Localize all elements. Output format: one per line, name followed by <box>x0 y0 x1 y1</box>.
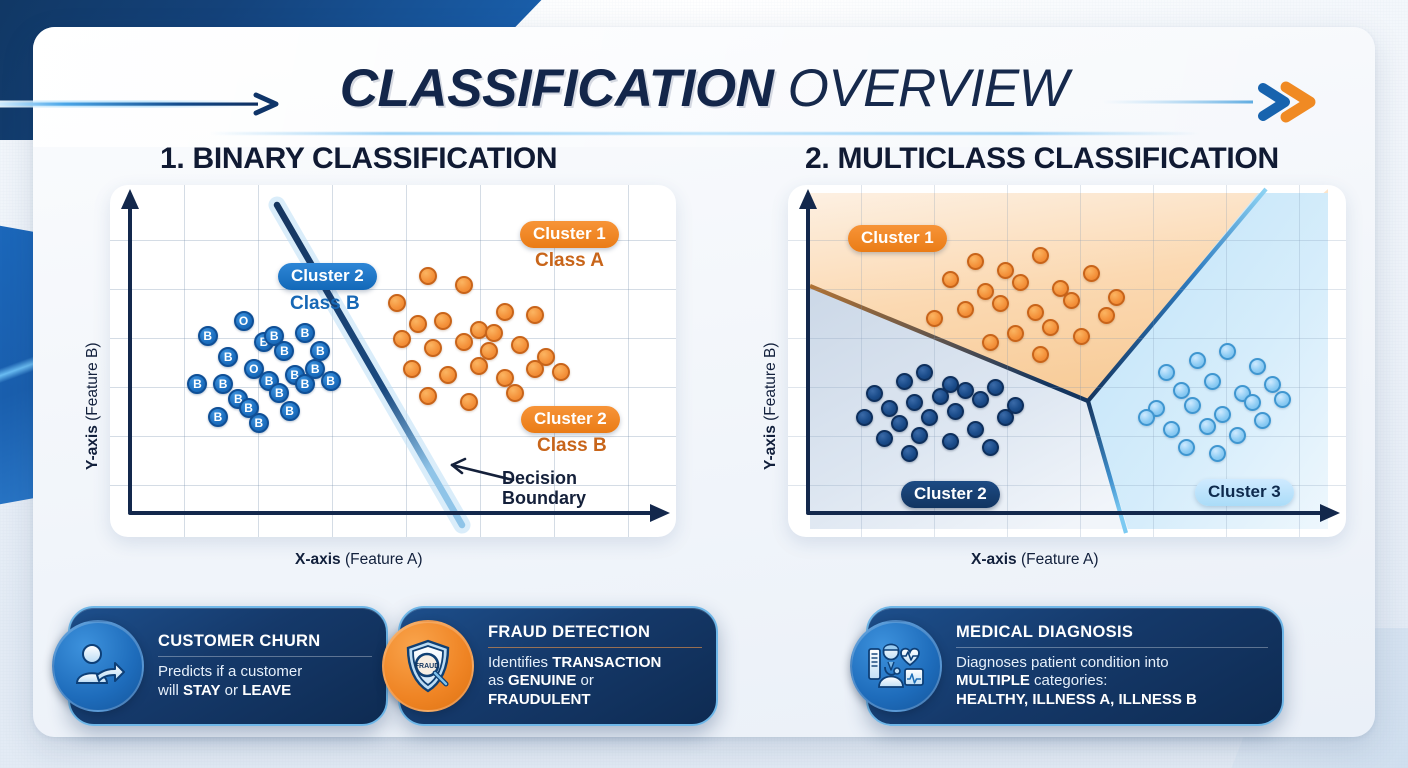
y-axis-label-bold: Y-axis <box>84 425 101 470</box>
label-class-b: Class B <box>290 293 360 315</box>
data-point <box>1063 292 1080 309</box>
data-point <box>982 334 999 351</box>
data-point <box>997 262 1014 279</box>
fraud-desc-transaction: TRANSACTION <box>552 654 661 671</box>
header: CLASSIFICATION OVERVIEW <box>0 30 1408 112</box>
x-axis-label-left: X-axis (Feature A) <box>295 551 423 569</box>
data-point <box>896 373 913 390</box>
decision-boundary-label-line2: Boundary <box>502 488 586 508</box>
y-axis-label-right: Y-axis (Feature B) <box>762 342 780 470</box>
med-desc-multiple: MULTIPLE <box>956 672 1030 689</box>
data-point <box>388 294 406 312</box>
data-point <box>1007 325 1024 342</box>
multiclass-classification-chart: Cluster 1 Cluster 2 Cluster 3 <box>788 185 1346 537</box>
data-point <box>1254 412 1271 429</box>
double-chevron-right-icon <box>1103 78 1343 126</box>
data-point <box>942 271 959 288</box>
badge-cluster-2[interactable]: Cluster 2 <box>901 481 1000 508</box>
data-point <box>916 364 933 381</box>
data-point <box>419 387 437 405</box>
data-point <box>866 385 883 402</box>
x-axis-label-right: X-axis (Feature A) <box>971 551 1099 569</box>
decision-boundary-label-line1: Decision <box>502 468 586 488</box>
fraud-desc-2a: as <box>488 672 508 689</box>
churn-desc-leave: LEAVE <box>242 682 291 699</box>
badge-cluster-3[interactable]: Cluster 3 <box>1195 479 1294 506</box>
data-point <box>1178 439 1195 456</box>
data-point <box>1138 409 1155 426</box>
x-axis-line <box>128 511 654 515</box>
use-case-body-3: MEDICAL DIAGNOSIS Diagnoses patient cond… <box>942 623 1282 709</box>
data-point <box>1244 394 1261 411</box>
churn-desc-stay: STAY <box>183 682 221 699</box>
data-point <box>1264 376 1281 393</box>
data-point <box>1204 373 1221 390</box>
data-point <box>982 439 999 456</box>
data-point <box>987 379 1004 396</box>
churn-desc-2a: will <box>158 682 183 699</box>
y-axis-label-rest-r: (Feature B) <box>762 342 779 425</box>
use-case-body-2: FRAUD DETECTION Identifies TRANSACTION a… <box>474 623 716 709</box>
data-point <box>1098 307 1115 324</box>
use-case-card-fraud-detection[interactable]: FRAUD FRAUD DETECTION Identifies TRANSAC… <box>398 606 718 726</box>
svg-text:FRAUD: FRAUD <box>415 663 440 670</box>
x-axis-label-bold: X-axis <box>295 551 341 568</box>
data-point <box>424 339 442 357</box>
data-point <box>419 267 437 285</box>
infographic-stage: CLASSIFICATION OVERVIEW 1. BINARY CLASSI… <box>0 0 1408 768</box>
data-point <box>1158 364 1175 381</box>
use-case-body-1: CUSTOMER CHURN Predicts if a customer wi… <box>144 632 386 700</box>
data-point <box>972 391 989 408</box>
y-axis-label-left: Y-axis (Feature B) <box>84 342 102 470</box>
data-point <box>876 430 893 447</box>
badge-cluster-1[interactable]: Cluster 1 <box>848 225 947 252</box>
badge-cluster-1-class-a[interactable]: Cluster 1 <box>520 221 619 248</box>
data-point <box>942 433 959 450</box>
y-axis-label-bold-r: Y-axis <box>762 425 779 470</box>
data-point: B <box>198 326 218 346</box>
med-desc-line1: Diagnoses patient condition into <box>956 654 1169 671</box>
data-point <box>455 333 473 351</box>
data-point: B <box>280 401 300 421</box>
data-point <box>957 382 974 399</box>
use-case-desc-3: Diagnoses patient condition into MULTIPL… <box>956 654 1268 709</box>
data-point: O <box>234 311 254 331</box>
doctor-stethoscope-icon <box>850 620 942 712</box>
data-point: B <box>239 398 259 418</box>
x-axis-label-bold-r: X-axis <box>971 551 1017 568</box>
data-point <box>552 363 570 381</box>
data-point <box>460 393 478 411</box>
data-point <box>992 295 1009 312</box>
data-point <box>932 388 949 405</box>
data-point <box>1108 289 1125 306</box>
data-point <box>1032 247 1049 264</box>
data-point <box>1214 406 1231 423</box>
data-point <box>455 276 473 294</box>
churn-desc-line1: Predicts if a customer <box>158 663 302 680</box>
data-point <box>856 409 873 426</box>
data-point <box>901 445 918 462</box>
use-case-desc-2: Identifies TRANSACTION as GENUINE or FRA… <box>488 654 702 709</box>
use-case-desc-1: Predicts if a customer will STAY or LEAV… <box>158 663 372 700</box>
y-axis-label-rest: (Feature B) <box>84 342 101 425</box>
data-point <box>1012 274 1029 291</box>
data-point <box>506 384 524 402</box>
data-point <box>1083 265 1100 282</box>
data-point <box>470 357 488 375</box>
data-point <box>1042 319 1059 336</box>
badge-cluster-2-class-b[interactable]: Cluster 2 <box>278 263 377 290</box>
data-point <box>1209 445 1226 462</box>
use-case-title-2: FRAUD DETECTION <box>488 623 702 648</box>
data-point <box>1163 421 1180 438</box>
data-point <box>926 310 943 327</box>
data-point <box>891 415 908 432</box>
data-point <box>1199 418 1216 435</box>
data-point <box>977 283 994 300</box>
section-title-multiclass: 2. MULTICLASS CLASSIFICATION <box>805 142 1279 176</box>
x-axis-label-rest-r: (Feature A) <box>1017 551 1099 568</box>
churn-desc-2c: or <box>221 682 243 699</box>
data-point <box>409 315 427 333</box>
data-point <box>511 336 529 354</box>
fraud-desc-1a: Identifies <box>488 654 552 671</box>
section-title-binary: 1. BINARY CLASSIFICATION <box>160 142 557 176</box>
header-divider <box>210 132 1200 135</box>
y-axis-line <box>128 201 132 513</box>
data-point <box>967 421 984 438</box>
fraud-desc-2c: or <box>576 672 594 689</box>
binary-classification-chart: BOBBBOBBBBBBBBBBBBBBBB Cluster 2 Class B… <box>110 185 676 537</box>
med-desc-2b: categories: <box>1030 672 1108 689</box>
data-point <box>1073 328 1090 345</box>
y-axis-line-right <box>806 201 810 513</box>
use-case-title-1: CUSTOMER CHURN <box>158 632 372 657</box>
use-case-title-3: MEDICAL DIAGNOSIS <box>956 623 1268 648</box>
data-point <box>496 303 514 321</box>
data-point <box>947 403 964 420</box>
badge-cluster-2-orange[interactable]: Cluster 2 <box>521 406 620 433</box>
user-leaving-icon <box>52 620 144 712</box>
data-point <box>906 394 923 411</box>
data-point <box>1274 391 1291 408</box>
data-point <box>881 400 898 417</box>
fraud-desc-genuine: GENUINE <box>508 672 576 689</box>
title-bold: CLASSIFICATION <box>340 59 774 118</box>
label-class-a: Class A <box>535 250 604 272</box>
data-point <box>1027 304 1044 321</box>
data-point <box>921 409 938 426</box>
data-point <box>1173 382 1190 399</box>
data-point <box>1007 397 1024 414</box>
use-case-card-medical-diagnosis[interactable]: MEDICAL DIAGNOSIS Diagnoses patient cond… <box>866 606 1284 726</box>
data-point: B <box>295 323 315 343</box>
shield-magnifier-fraud-icon: FRAUD <box>382 620 474 712</box>
data-point: B <box>321 371 341 391</box>
data-point <box>1219 343 1236 360</box>
data-point <box>1184 397 1201 414</box>
data-point <box>911 427 928 444</box>
data-point <box>1189 352 1206 369</box>
x-axis-line-right <box>806 511 1324 515</box>
data-point <box>957 301 974 318</box>
title-light: OVERVIEW <box>773 59 1068 118</box>
fraud-desc-fraudulent: FRAUDULENT <box>488 691 591 708</box>
med-desc-categories: HEALTHY, ILLNESS A, ILLNESS B <box>956 691 1197 708</box>
data-point <box>1249 358 1266 375</box>
data-point: B <box>208 407 228 427</box>
x-axis-label-rest: (Feature A) <box>341 551 423 568</box>
data-point <box>1229 427 1246 444</box>
use-case-card-customer-churn[interactable]: CUSTOMER CHURN Predicts if a customer wi… <box>68 606 388 726</box>
label-class-b-orange: Class B <box>537 435 607 457</box>
data-point <box>1032 346 1049 363</box>
data-point <box>967 253 984 270</box>
